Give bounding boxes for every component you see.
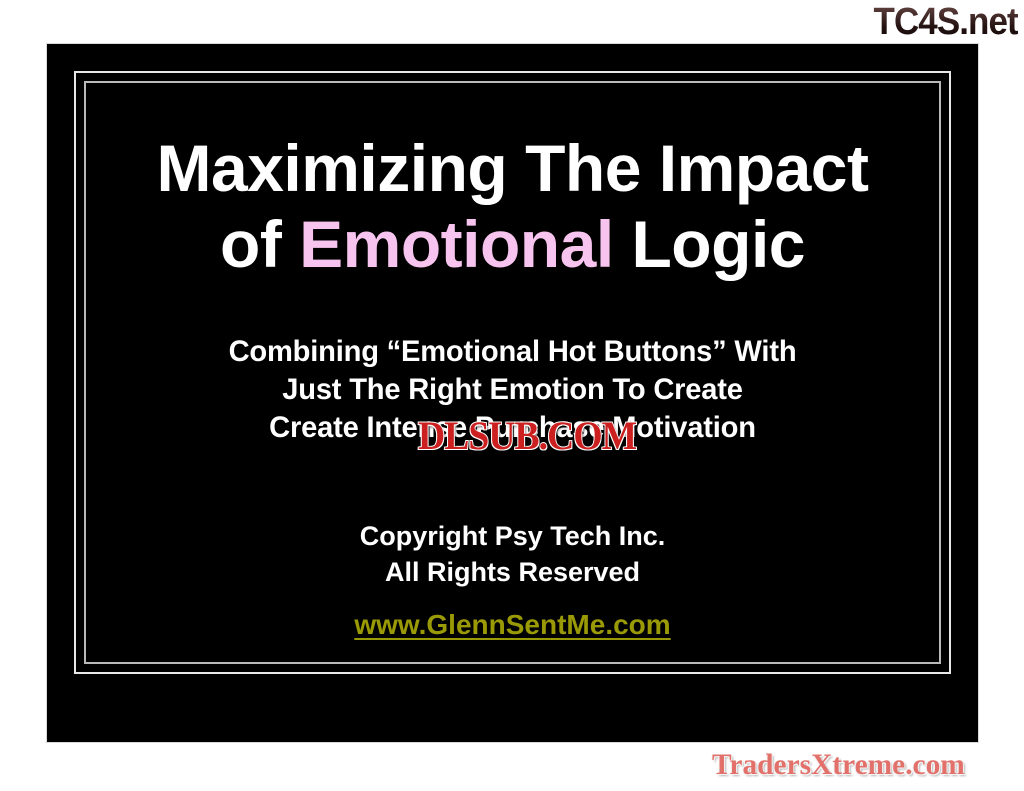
title-line-1: Maximizing The Impact	[47, 130, 978, 206]
tradersxtreme-watermark: TradersXtreme.com	[712, 748, 965, 782]
subtitle-line-2: Just The Right Emotion To Create	[61, 371, 964, 409]
copyright-line-1: Copyright Psy Tech Inc.	[47, 518, 978, 554]
slide-canvas: Maximizing The Impact of Emotional Logic…	[47, 44, 978, 742]
title-line-2-suffix: Logic	[614, 207, 805, 281]
copyright-line-2: All Rights Reserved	[47, 554, 978, 590]
dlsub-watermark: DLSUB.COM	[418, 414, 636, 458]
slide-copyright: Copyright Psy Tech Inc. All Rights Reser…	[47, 518, 978, 642]
link-row: www.GlennSentMe.com	[47, 608, 978, 642]
slide-title: Maximizing The Impact of Emotional Logic	[47, 130, 978, 282]
subtitle-line-1: Combining “Emotional Hot Buttons” With	[61, 333, 964, 371]
title-line-2: of Emotional Logic	[47, 206, 978, 282]
tc4s-watermark: TC4S.net	[874, 2, 1018, 42]
title-accent-emotional: Emotional	[299, 207, 614, 281]
title-line-2-prefix: of	[220, 207, 299, 281]
glennsentme-link[interactable]: www.GlennSentMe.com	[354, 609, 670, 640]
